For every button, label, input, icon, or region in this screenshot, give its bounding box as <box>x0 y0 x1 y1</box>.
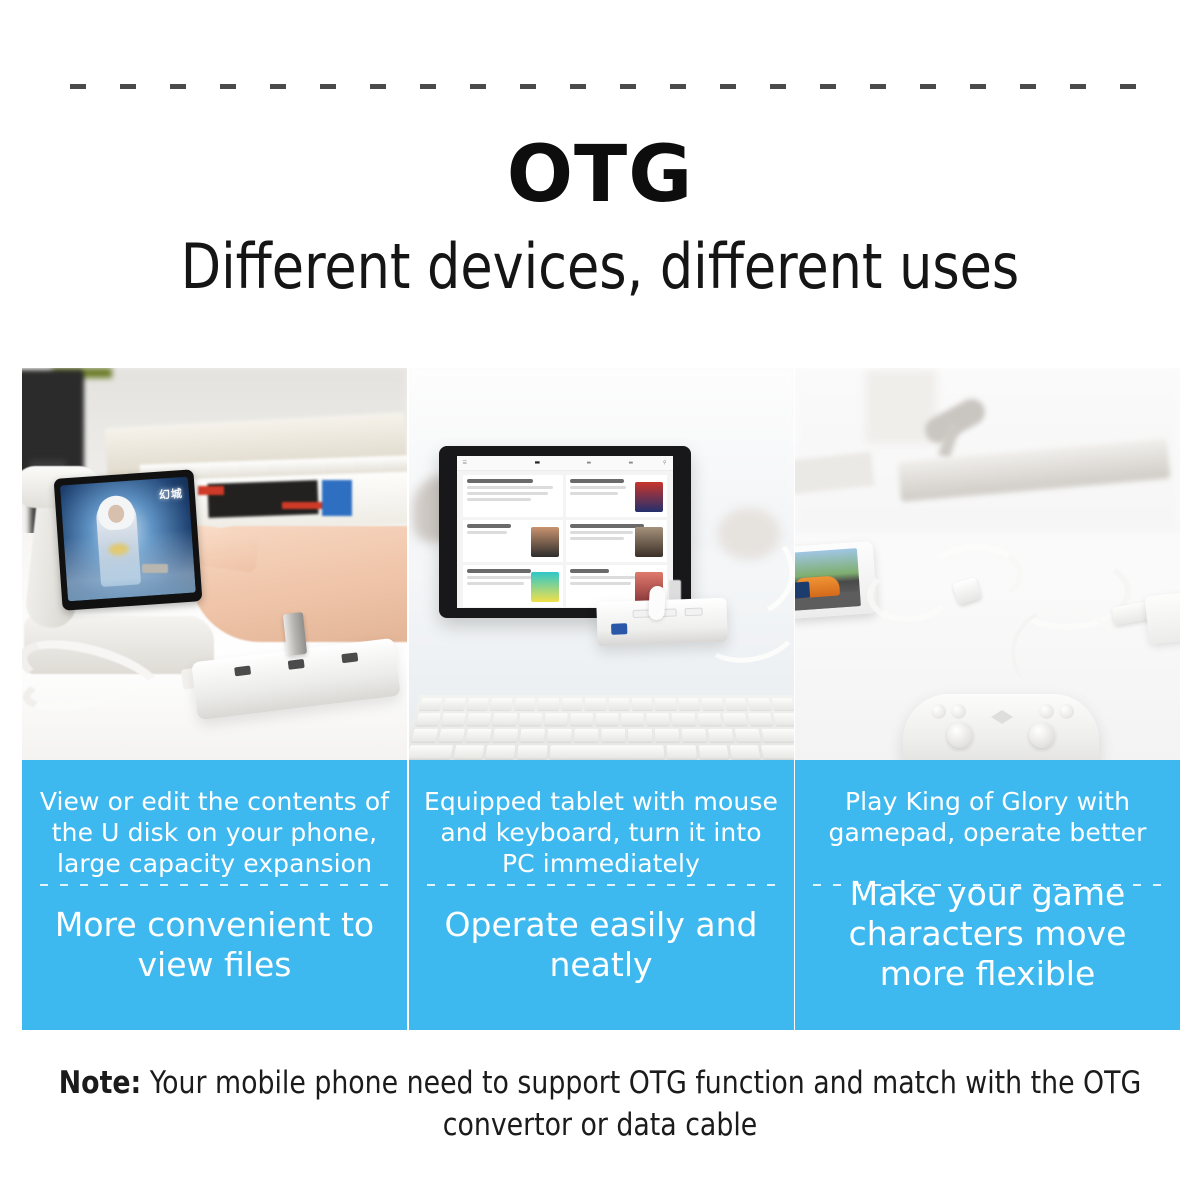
caption-dashed-divider <box>40 884 389 886</box>
article-card <box>463 475 564 517</box>
phone-screen-movie: 幻城 <box>60 477 196 602</box>
feature-cards-row: 幻城 View or edit the contents of the U di… <box>22 368 1180 1030</box>
usb-flash-drive <box>283 612 307 656</box>
caption-description: Equipped tablet with mouse and keyboard,… <box>423 760 780 879</box>
feature-card-3: Play King of Glory with gamepad, operate… <box>795 368 1180 1030</box>
red-book-accent <box>198 486 224 495</box>
caption-block-3: Play King of Glory with gamepad, operate… <box>795 760 1180 1030</box>
hub-port-3 <box>341 652 358 663</box>
gamepad-stick-left <box>947 722 973 748</box>
gamepad-stick-right <box>1029 722 1055 748</box>
app-top-bar: ☰ ▬ ▬ ▬ ⚲ <box>457 456 673 471</box>
top-dashed-divider <box>70 84 1140 89</box>
article-card <box>566 520 667 562</box>
hub-brand-badge <box>611 623 627 635</box>
phone-screen-racing-game <box>795 548 861 611</box>
footer-note: Note: Your mobile phone need to support … <box>24 1062 1176 1146</box>
hub-port-1 <box>234 666 251 677</box>
footer-note-label: Note: <box>59 1065 141 1101</box>
article-card <box>463 520 564 562</box>
gamepad <box>903 694 1099 760</box>
blue-book <box>322 480 352 516</box>
dark-book <box>207 480 318 518</box>
smartphone <box>795 541 877 619</box>
smartphone: 幻城 <box>54 469 203 610</box>
gamepad-logo <box>991 710 1013 724</box>
feature-card-2: ☰ ▬ ▬ ▬ ⚲ <box>409 368 794 1030</box>
movie-title-text: 幻城 <box>158 485 183 503</box>
caption-description: Play King of Glory with gamepad, operate… <box>809 760 1166 848</box>
otg-feature-page: OTG Different devices, different uses <box>0 0 1200 1200</box>
article-card <box>566 475 667 517</box>
article-card <box>463 565 564 607</box>
page-title: OTG <box>0 133 1200 217</box>
caption-dashed-divider <box>427 884 776 886</box>
usb-flash-drive <box>648 586 666 621</box>
app-article-grid <box>463 475 667 605</box>
game-car-blue <box>795 582 810 599</box>
caption-block-1: View or edit the contents of the U disk … <box>22 760 407 1030</box>
caption-description: View or edit the contents of the U disk … <box>36 760 393 879</box>
photo-phone-gamepad <box>795 368 1180 760</box>
tablet-screen: ☰ ▬ ▬ ▬ ⚲ <box>457 456 673 608</box>
stand-brand-logo <box>142 564 168 573</box>
photo-tablet-keyboard-hub: ☰ ▬ ▬ ▬ ⚲ <box>409 368 794 760</box>
hub-port-2 <box>288 659 305 670</box>
keyboard <box>409 695 794 760</box>
usb-hub-right <box>1145 592 1180 645</box>
movie-fog <box>64 529 196 602</box>
caption-headline: Make your game characters move more flex… <box>809 848 1166 994</box>
feature-card-1: 幻城 View or edit the contents of the U di… <box>22 368 407 1030</box>
caption-headline: More convenient to view files <box>36 879 393 985</box>
footer-note-text: Your mobile phone need to support OTG fu… <box>141 1065 1141 1143</box>
photo-phone-stand-usb: 幻城 <box>22 368 407 760</box>
caption-dashed-divider <box>813 884 1162 886</box>
caption-block-2: Equipped tablet with mouse and keyboard,… <box>409 760 794 1030</box>
page-subtitle: Different devices, different uses <box>36 232 1164 302</box>
caption-headline: Operate easily and neatly <box>423 879 780 985</box>
